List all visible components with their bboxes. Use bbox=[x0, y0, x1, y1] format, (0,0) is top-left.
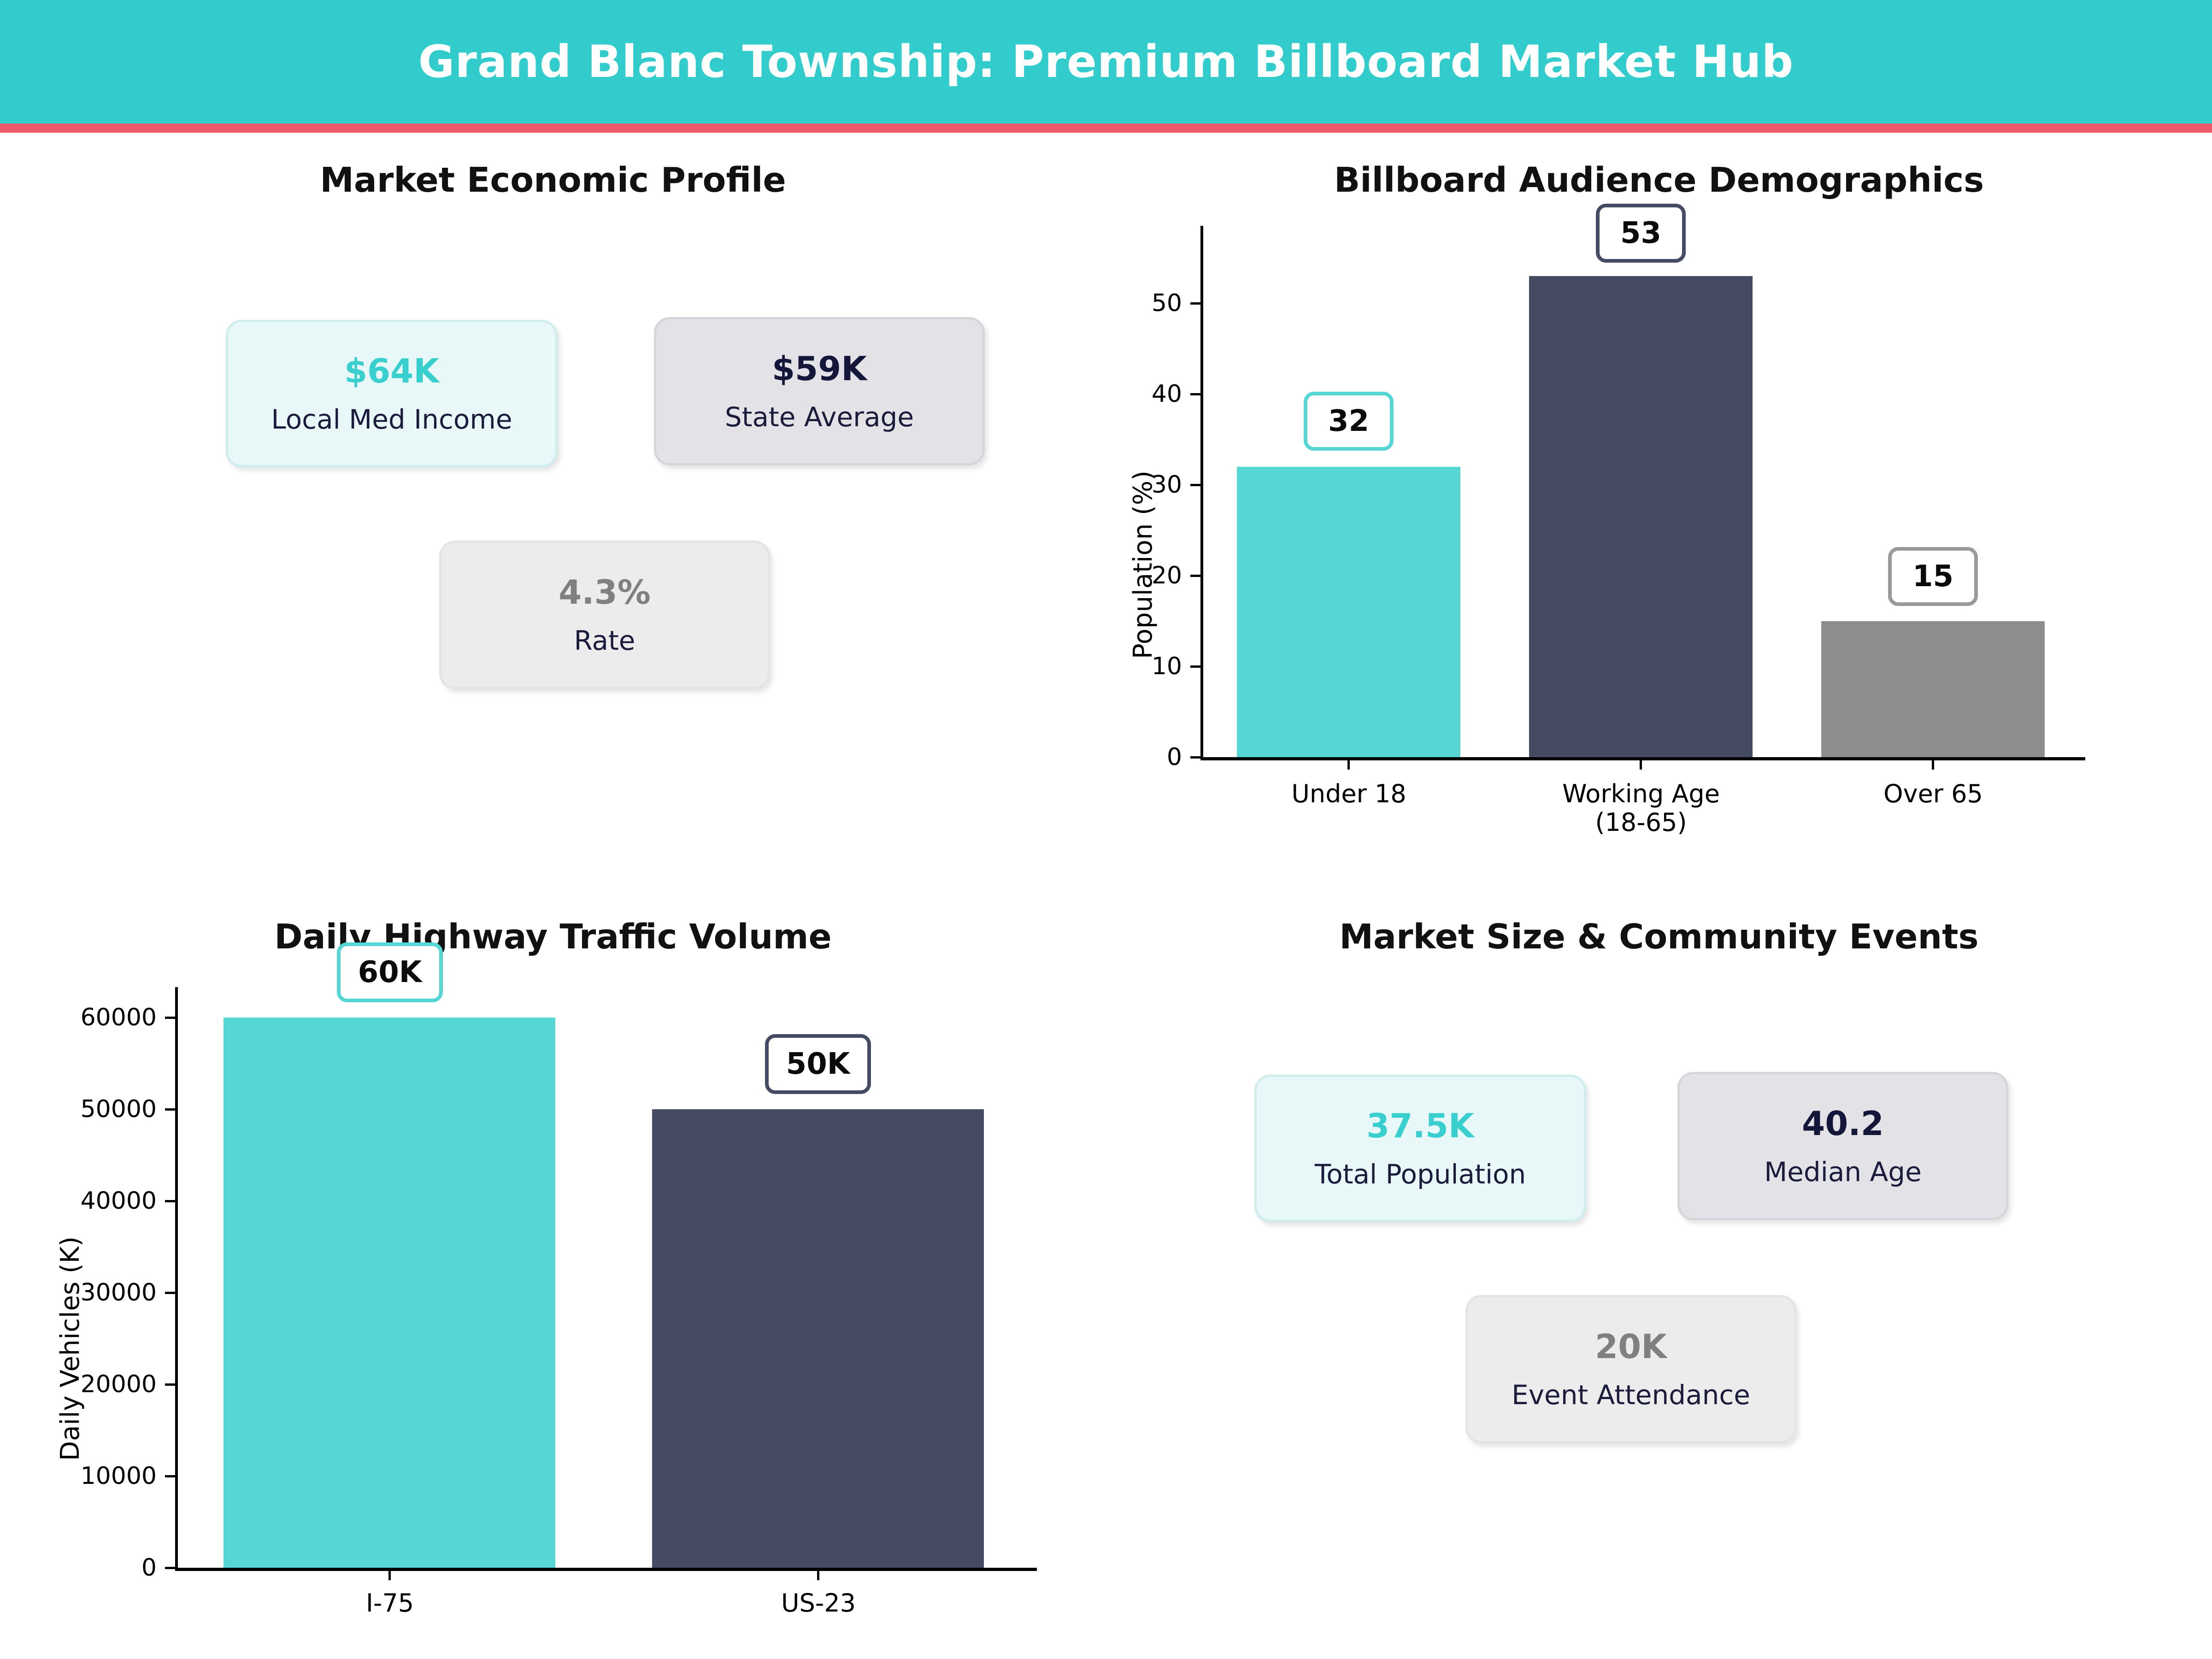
y-tick-mark bbox=[165, 1383, 175, 1386]
y-tick-mark bbox=[165, 1017, 175, 1019]
y-axis-line bbox=[175, 987, 178, 1569]
y-tick-label: 20000 bbox=[18, 1371, 157, 1398]
bar-us-23 bbox=[652, 1109, 984, 1568]
y-tick-label: 10000 bbox=[18, 1462, 157, 1490]
y-tick-label: 20 bbox=[1124, 562, 1182, 589]
y-tick-mark bbox=[1190, 393, 1200, 395]
kpi-label: Total Population bbox=[1315, 1161, 1526, 1188]
x-axis-line bbox=[1200, 757, 2085, 760]
header-banner: Grand Blanc Township: Premium Billboard … bbox=[0, 0, 2212, 124]
kpi-card-state-average: $59K State Average bbox=[654, 317, 985, 465]
y-tick-mark bbox=[1190, 665, 1200, 668]
kpi-value: 20K bbox=[1595, 1330, 1667, 1363]
y-tick-label: 30000 bbox=[18, 1279, 157, 1306]
y-tick-mark bbox=[1190, 484, 1200, 486]
x-tick-mark bbox=[1347, 759, 1350, 770]
bar-i-75 bbox=[224, 1018, 555, 1568]
kpi-card-median-age: 40.2 Median Age bbox=[1677, 1072, 2008, 1220]
kpi-card-event-attendance: 20K Event Attendance bbox=[1465, 1295, 1796, 1443]
x-tick-label-us-23: US-23 bbox=[703, 1589, 934, 1618]
x-tick-label-under-18: Under 18 bbox=[1234, 780, 1464, 808]
y-tick-label: 30 bbox=[1124, 471, 1182, 499]
y-tick-mark bbox=[165, 1475, 175, 1477]
x-tick-label-over-65: Over 65 bbox=[1818, 780, 2048, 808]
x-tick-label-working-age: Working Age(18-65) bbox=[1526, 780, 1756, 837]
kpi-value: $59K bbox=[772, 352, 867, 385]
x-tick-mark bbox=[1640, 759, 1642, 770]
kpi-value: $64K bbox=[344, 354, 439, 388]
kpi-label: Rate bbox=[574, 627, 635, 654]
bar-value-badge-under-18: 32 bbox=[1304, 392, 1394, 451]
demographics-chart: Population (%) 0 10 20 30 40 50 32 53 15… bbox=[1106, 198, 2212, 843]
bar-over-65 bbox=[1821, 621, 2045, 757]
y-tick-mark bbox=[165, 1292, 175, 1294]
y-tick-mark bbox=[1190, 302, 1200, 305]
kpi-label: Local Med Income bbox=[271, 406, 512, 433]
market-size-panel-title: Market Size & Community Events bbox=[1106, 917, 2212, 957]
y-tick-label: 0 bbox=[1124, 743, 1182, 771]
y-tick-mark bbox=[165, 1567, 175, 1569]
kpi-card-rate: 4.3% Rate bbox=[439, 541, 770, 689]
kpi-card-local-med-income: $64K Local Med Income bbox=[226, 320, 558, 467]
x-tick-mark bbox=[1932, 759, 1934, 770]
y-tick-label: 10 bbox=[1124, 653, 1182, 680]
y-axis-line bbox=[1200, 226, 1203, 758]
bar-value-badge-i-75: 60K bbox=[337, 942, 443, 1002]
y-tick-label: 60000 bbox=[18, 1004, 157, 1031]
y-tick-label: 0 bbox=[18, 1554, 157, 1582]
bar-value-badge-over-65: 15 bbox=[1888, 547, 1978, 606]
y-axis-title: Daily Vehicles (K) bbox=[55, 1236, 85, 1461]
kpi-value: 40.2 bbox=[1802, 1107, 1884, 1140]
y-tick-label: 40000 bbox=[18, 1187, 157, 1215]
economic-panel-title: Market Economic Profile bbox=[0, 160, 1106, 200]
demographics-panel-title: Billboard Audience Demographics bbox=[1106, 160, 2212, 200]
x-tick-mark bbox=[817, 1570, 819, 1580]
page-title: Grand Blanc Township: Premium Billboard … bbox=[418, 36, 1794, 88]
kpi-value: 4.3% bbox=[559, 576, 651, 609]
x-tick-mark bbox=[388, 1570, 391, 1580]
traffic-chart: Daily Vehicles (K) 0 10000 20000 30000 4… bbox=[0, 949, 1106, 1618]
kpi-value: 37.5K bbox=[1366, 1109, 1474, 1142]
bar-value-badge-working-age: 53 bbox=[1596, 204, 1686, 263]
bar-value-badge-us-23: 50K bbox=[765, 1034, 871, 1094]
kpi-label: Event Attendance bbox=[1512, 1382, 1750, 1408]
y-tick-mark bbox=[165, 1108, 175, 1111]
y-tick-mark bbox=[1190, 756, 1200, 759]
kpi-label: State Average bbox=[725, 404, 914, 430]
bar-under-18 bbox=[1237, 467, 1460, 757]
kpi-card-total-population: 37.5K Total Population bbox=[1254, 1075, 1586, 1222]
y-tick-label: 50 bbox=[1124, 289, 1182, 317]
y-tick-mark bbox=[1190, 575, 1200, 577]
kpi-label: Median Age bbox=[1764, 1159, 1922, 1185]
x-axis-line bbox=[175, 1568, 1037, 1571]
header-divider bbox=[0, 124, 2212, 133]
x-tick-label-i-75: I-75 bbox=[275, 1589, 505, 1618]
y-tick-label: 40 bbox=[1124, 380, 1182, 408]
y-tick-mark bbox=[165, 1200, 175, 1202]
y-tick-label: 50000 bbox=[18, 1095, 157, 1123]
bar-working-age bbox=[1529, 276, 1753, 757]
